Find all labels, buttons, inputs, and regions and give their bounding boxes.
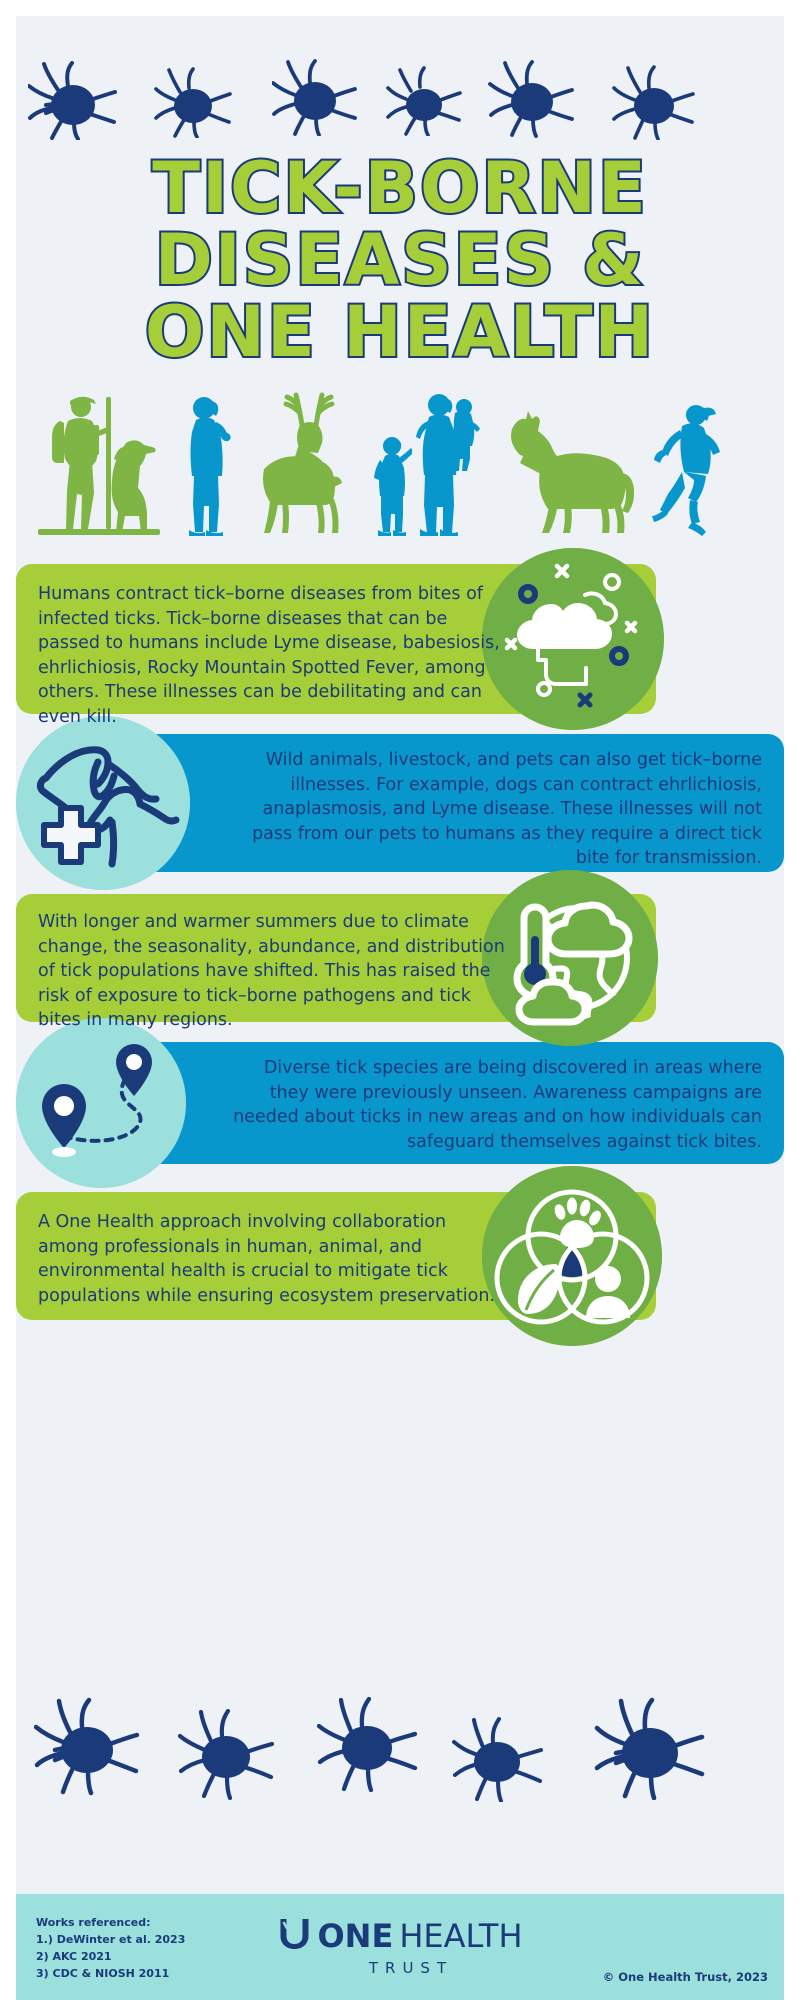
card-climate-text: With longer and warmer summers due to cl… <box>38 910 506 1033</box>
logo-word-trust: TRUST <box>277 1959 522 1977</box>
tick-icon <box>272 58 360 136</box>
tick-icon <box>34 1696 144 1796</box>
tick-icon <box>154 66 234 138</box>
silhouette-runner <box>652 402 724 541</box>
leaf-mark-icon <box>277 1916 311 1955</box>
footer-bar: Works referenced: 1.) DeWinter et al. 20… <box>16 1894 784 2000</box>
tick-icon <box>594 1696 710 1800</box>
tick-strip-top <box>16 42 784 152</box>
references-block: Works referenced: 1.) DeWinter et al. 20… <box>36 1914 185 1982</box>
silhouette-row <box>16 386 784 541</box>
card-animals-text: Wild animals, livestock, and pets can al… <box>222 748 762 871</box>
reference-item: 2) AKC 2021 <box>36 1948 185 1965</box>
dog-cat-medical-cross-icon <box>16 716 190 890</box>
title-line-1: TICK-BORNE <box>16 152 784 224</box>
card-new-areas-text: Diverse tick species are being discovere… <box>222 1056 762 1154</box>
poster-title: TICK-BORNE DISEASES & ONE HEALTH <box>16 152 784 368</box>
tick-icon <box>452 1716 546 1802</box>
card-humans: Humans contract tick–borne diseases from… <box>16 564 656 714</box>
tick-icon <box>386 66 464 136</box>
card-climate: With longer and warmer summers due to cl… <box>16 894 656 1022</box>
tick-icon <box>316 1696 422 1792</box>
tick-icon <box>612 64 698 140</box>
head-brain-cloud-icon <box>482 548 664 730</box>
silhouette-horse <box>494 401 634 541</box>
card-new-areas: Diverse tick species are being discovere… <box>52 1042 784 1164</box>
tick-icon <box>178 1708 278 1800</box>
card-humans-text: Humans contract tick–borne diseases from… <box>38 582 506 729</box>
tick-icon <box>488 58 578 138</box>
card-one-health-text: A One Health approach involving collabor… <box>38 1210 506 1308</box>
reference-item: 3) CDC & NIOSH 2011 <box>36 1965 185 1982</box>
tick-strip-bottom <box>16 1688 784 1878</box>
one-health-trust-logo: ONE HEALTH TRUST <box>277 1916 522 1977</box>
reference-item: 1.) DeWinter et al. 2023 <box>36 1931 185 1948</box>
title-line-2: DISEASES & <box>16 224 784 296</box>
title-line-3: ONE HEALTH <box>16 296 784 368</box>
silhouette-parent-with-baby <box>406 391 484 541</box>
map-pins-route-icon <box>16 1018 186 1188</box>
card-animals: Wild animals, livestock, and pets can al… <box>52 734 784 872</box>
silhouette-deer <box>238 391 358 541</box>
card-one-health: A One Health approach involving collabor… <box>16 1192 656 1320</box>
silhouette-hiker-with-dog <box>34 391 164 541</box>
logo-word-health: HEALTH <box>399 1919 522 1953</box>
tick-icon <box>28 60 120 140</box>
references-heading: Works referenced: <box>36 1914 185 1931</box>
copyright-text: © One Health Trust, 2023 <box>603 1970 768 1984</box>
globe-thermometer-icon <box>482 870 658 1046</box>
infographic-poster: TICK-BORNE DISEASES & ONE HEALTH <box>0 0 800 2000</box>
one-health-venn-icon <box>482 1166 662 1346</box>
silhouette-woman-with-phone <box>176 394 238 541</box>
logo-word-one: ONE <box>317 1919 393 1953</box>
